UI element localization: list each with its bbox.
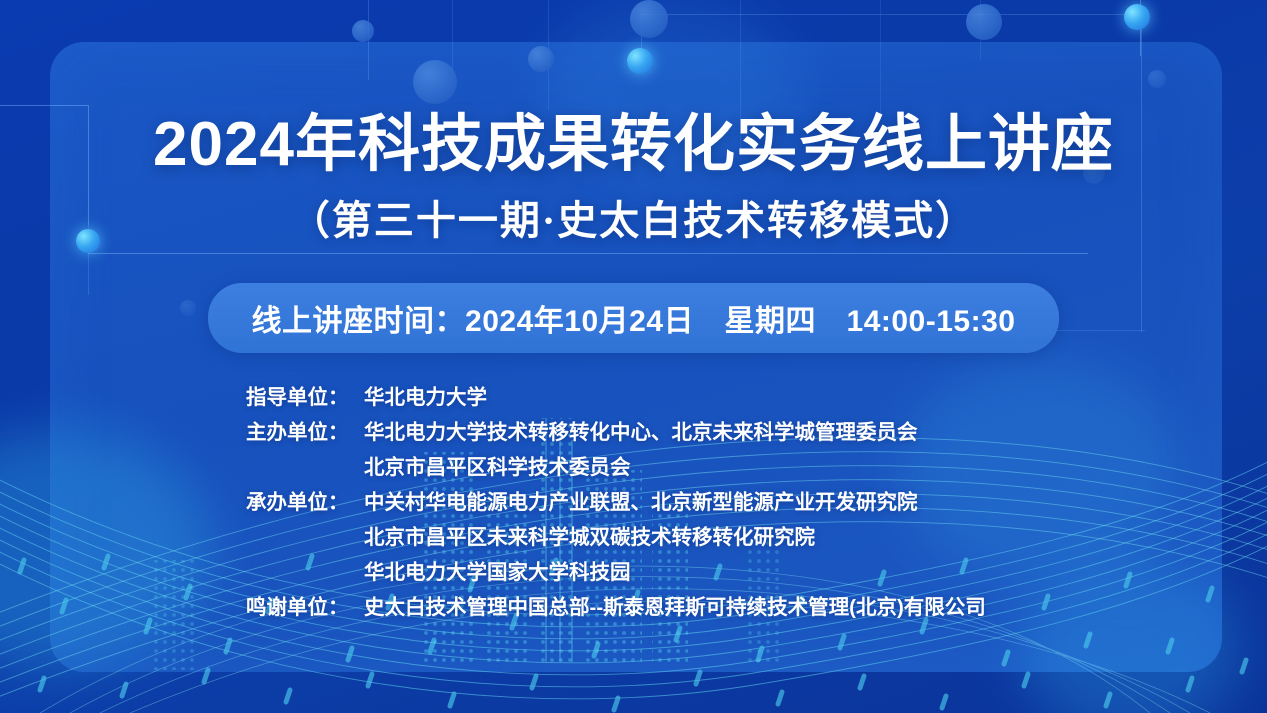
organization-value: 华北电力大学: [364, 380, 1076, 415]
organization-row: 主办单位： 华北电力大学技术转移转化中心、北京未来科学城管理委员会: [246, 415, 1076, 450]
organization-value: 史太白技术管理中国总部--斯泰恩拜斯可持续技术管理(北京)有限公司: [364, 590, 1076, 625]
organization-value: 华北电力大学国家大学科技园: [364, 555, 1076, 590]
organization-row: 华北电力大学国家大学科技园: [246, 555, 1076, 590]
organization-label: 承办单位：: [246, 485, 364, 520]
circuit-node-icon: [1124, 4, 1150, 30]
page-title: 2024年科技成果转化实务线上讲座: [0, 93, 1267, 183]
circuit-node-icon: [630, 0, 668, 38]
circuit-node-icon: [966, 4, 1002, 40]
organization-label: 主办单位：: [246, 415, 364, 450]
organizations-list: 指导单位： 华北电力大学 主办单位： 华北电力大学技术转移转化中心、北京未来科学…: [246, 380, 1076, 625]
circuit-node-icon: [352, 20, 374, 42]
organization-value: 北京市昌平区未来科学城双碳技术转移转化研究院: [364, 520, 1076, 555]
organization-value: 中关村华电能源电力产业联盟、北京新型能源产业开发研究院: [364, 485, 1076, 520]
organization-row: 承办单位： 中关村华电能源电力产业联盟、北京新型能源产业开发研究院: [246, 485, 1076, 520]
organization-label: 指导单位：: [246, 380, 364, 415]
lecture-time-text: 线上讲座时间：2024年10月24日 星期四 14:00-15:30: [252, 305, 1016, 338]
organization-label: [246, 450, 364, 485]
poster-canvas: 2024年科技成果转化实务线上讲座 （第三十一期·史太白技术转移模式） 线上讲座…: [0, 0, 1267, 713]
organization-label: [246, 555, 364, 590]
page-subtitle: （第三十一期·史太白技术转移模式）: [0, 188, 1267, 246]
organization-row: 北京市昌平区未来科学城双碳技术转移转化研究院: [246, 520, 1076, 555]
organization-row: 北京市昌平区科学技术委员会: [246, 450, 1076, 485]
organization-value: 北京市昌平区科学技术委员会: [364, 450, 1076, 485]
organization-label: 鸣谢单位：: [246, 590, 364, 625]
circuit-line: [640, 14, 1140, 15]
organization-row: 鸣谢单位： 史太白技术管理中国总部--斯泰恩拜斯可持续技术管理(北京)有限公司: [246, 590, 1076, 625]
lecture-time-badge: 线上讲座时间：2024年10月24日 星期四 14:00-15:30: [208, 283, 1060, 353]
organization-value: 华北电力大学技术转移转化中心、北京未来科学城管理委员会: [364, 415, 1076, 450]
organization-label: [246, 520, 364, 555]
organization-row: 指导单位： 华北电力大学: [246, 380, 1076, 415]
